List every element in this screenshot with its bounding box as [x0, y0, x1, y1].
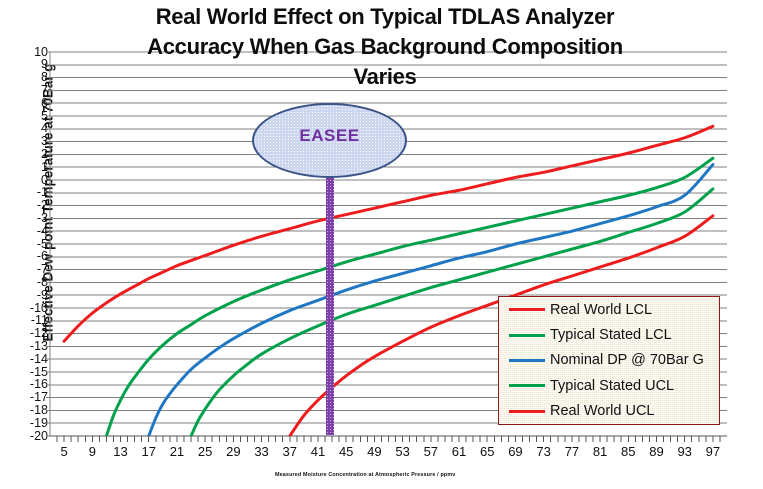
easee-callout[interactable]: EASEE — [252, 103, 407, 178]
easee-callout-label: EASEE — [254, 126, 405, 146]
legend-item[interactable]: Real World LCL — [499, 297, 719, 322]
legend-color-swatch — [509, 410, 545, 413]
legend-item-label: Real World UCL — [550, 403, 655, 419]
legend-item[interactable]: Typical Stated UCL — [499, 373, 719, 398]
legend-color-swatch — [509, 334, 545, 337]
legend-item[interactable]: Real World UCL — [499, 399, 719, 424]
legend-item[interactable]: Nominal DP @ 70Bar G — [499, 348, 719, 373]
chart-container: Real World Effect on Typical TDLAS Analy… — [0, 0, 763, 489]
legend-item-label: Nominal DP @ 70Bar G — [550, 352, 704, 368]
x-axis-ticks — [57, 436, 720, 442]
legend-item-label: Typical Stated LCL — [550, 327, 672, 343]
legend-color-swatch — [509, 359, 545, 362]
legend-color-swatch — [509, 384, 545, 387]
easee-callout-stem — [326, 176, 334, 435]
legend-color-swatch — [509, 308, 545, 311]
legend-item[interactable]: Typical Stated LCL — [499, 322, 719, 347]
legend-item-label: Real World LCL — [550, 302, 652, 318]
legend-item-label: Typical Stated UCL — [550, 378, 674, 394]
y-axis-ticks — [46, 52, 50, 436]
chart-legend: Real World LCLTypical Stated LCLNominal … — [498, 296, 720, 425]
